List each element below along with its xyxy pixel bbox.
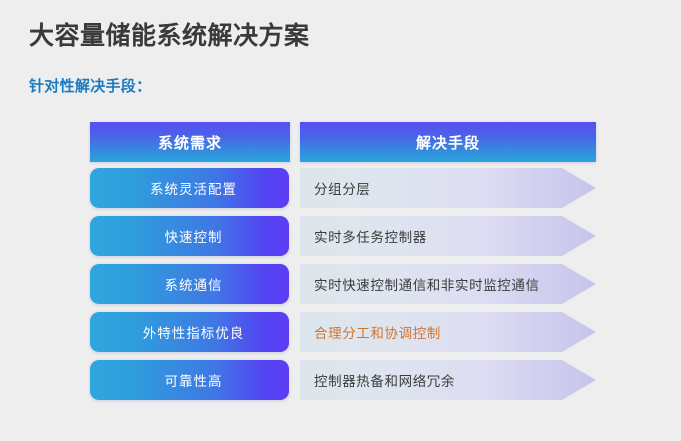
solution-arrow[interactable]: 分组分层 [300, 168, 596, 208]
need-pill[interactable]: 系统灵活配置 [90, 168, 289, 208]
solution-label: 控制器热备和网络冗余 [314, 370, 455, 390]
need-pill[interactable]: 可靠性高 [90, 360, 289, 400]
header-cell-need: 系统需求 [90, 122, 290, 162]
need-pill[interactable]: 系统通信 [90, 264, 289, 304]
header-cell-solution: 解决手段 [300, 122, 596, 162]
matrix-row: 快速控制实时多任务控制器 [0, 216, 681, 256]
solution-arrow[interactable]: 实时多任务控制器 [300, 216, 596, 256]
matrix-header-row: 系统需求 解决手段 [0, 122, 681, 162]
solution-label: 实时快速控制通信和非实时监控通信 [314, 274, 540, 294]
need-label: 系统通信 [165, 274, 223, 294]
need-label: 系统灵活配置 [150, 178, 237, 198]
solution-matrix: 系统需求 解决手段 系统灵活配置分组分层快速控制实时多任务控制器系统通信实时快速… [0, 0, 681, 441]
need-label: 快速控制 [165, 226, 223, 246]
matrix-row: 外特性指标优良合理分工和协调控制 [0, 312, 681, 352]
need-pill[interactable]: 快速控制 [90, 216, 289, 256]
matrix-row: 系统灵活配置分组分层 [0, 168, 681, 208]
solution-arrow[interactable]: 控制器热备和网络冗余 [300, 360, 596, 400]
solution-label: 分组分层 [314, 178, 370, 198]
matrix-row: 系统通信实时快速控制通信和非实时监控通信 [0, 264, 681, 304]
matrix-body: 系统灵活配置分组分层快速控制实时多任务控制器系统通信实时快速控制通信和非实时监控… [0, 168, 681, 408]
need-label: 可靠性高 [165, 370, 223, 390]
solution-arrow[interactable]: 合理分工和协调控制 [300, 312, 596, 352]
solution-arrow[interactable]: 实时快速控制通信和非实时监控通信 [300, 264, 596, 304]
solution-label: 合理分工和协调控制 [314, 322, 441, 342]
matrix-row: 可靠性高控制器热备和网络冗余 [0, 360, 681, 400]
solution-label: 实时多任务控制器 [314, 226, 427, 246]
need-label: 外特性指标优良 [143, 322, 245, 342]
need-pill[interactable]: 外特性指标优良 [90, 312, 289, 352]
